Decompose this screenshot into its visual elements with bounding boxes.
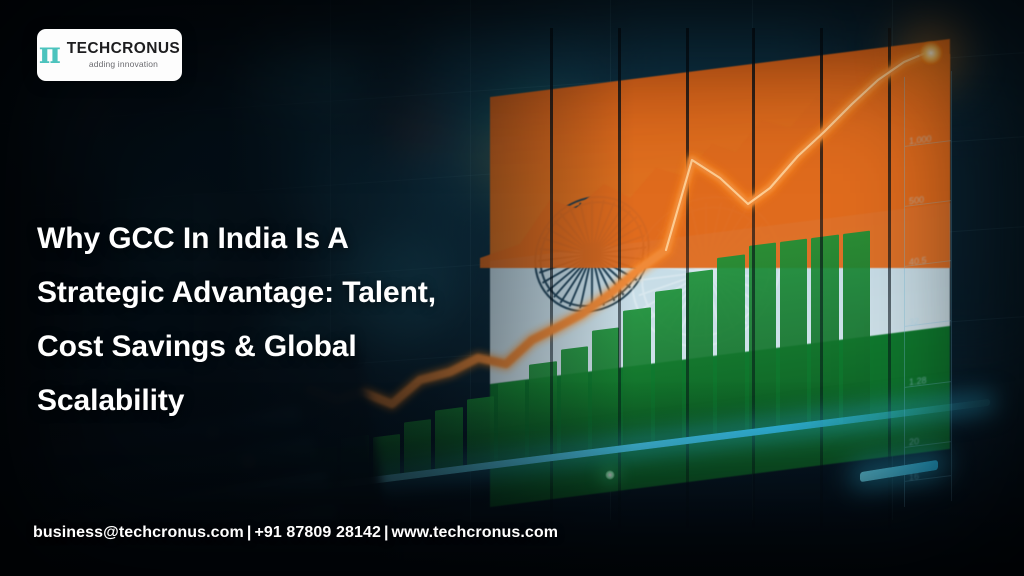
headline-line-2: Strategic Advantage: Talent, [37,266,467,320]
contact-email[interactable]: business@techcronus.com [33,524,244,541]
banner: 1,000 500 40.5 32 1.28 20 16 π TECHCRON [0,0,1024,576]
logo-badge[interactable]: π TECHCRONUS adding innovation [37,29,182,81]
contact-bar: business@techcronus.com|+91 87809 28142|… [33,524,558,542]
contact-phone[interactable]: +91 87809 28142 [254,524,381,541]
headline-line-1: Why GCC In India Is A [37,212,467,266]
contact-website[interactable]: www.techcronus.com [392,524,559,541]
page-title: Why GCC In India Is A Strategic Advantag… [37,212,467,428]
headline-line-3: Cost Savings & Global [37,320,467,374]
contact-separator-1: | [244,524,255,541]
contact-separator-2: | [381,524,392,541]
pi-symbol-icon: π [39,39,61,69]
brand-name: TECHCRONUS [67,41,180,57]
headline-line-4: Scalability [37,374,467,428]
brand-tagline: adding innovation [89,59,158,69]
